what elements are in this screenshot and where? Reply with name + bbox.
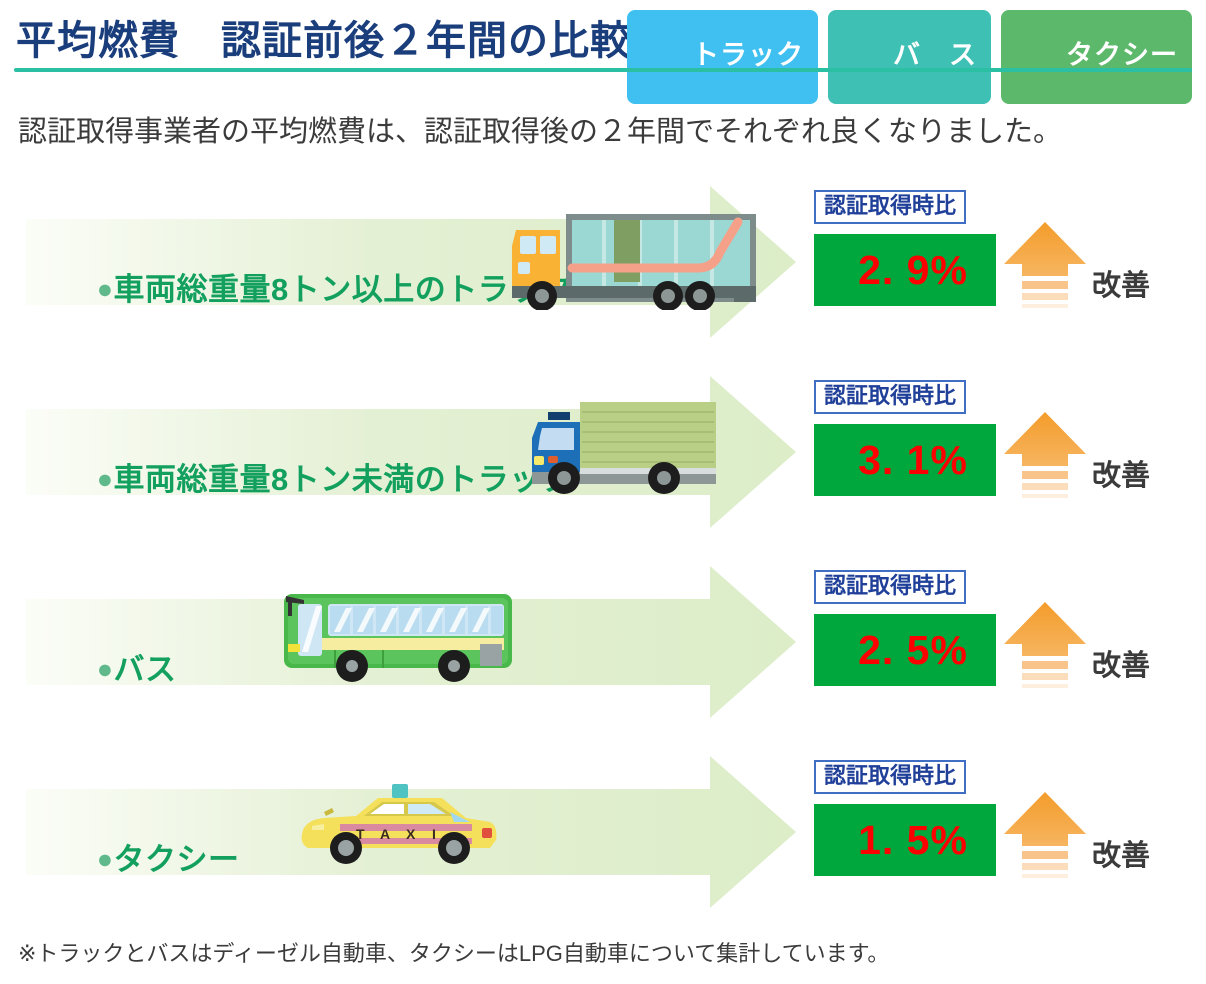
metric-caption: 認証取得時比 — [814, 380, 966, 414]
badge-bus-label: バ ス — [893, 40, 977, 70]
metric-value-box: 1. 5% — [814, 804, 996, 876]
metric-bus: 認証取得時比 2. 5% 改善 — [810, 558, 1200, 748]
footnote-text: ※トラックとバスはディーゼル自動車、タクシーはLPG自動車について集計しています… — [18, 936, 889, 968]
category-badge-group: トラック バ ス タクシー — [627, 10, 1192, 104]
bullet-icon: ● — [97, 844, 114, 874]
improve-label: 改善 — [1092, 642, 1150, 684]
bullet-icon: ● — [97, 654, 114, 684]
metric-value-box: 3. 1% — [814, 424, 996, 496]
improve-label: 改善 — [1092, 452, 1150, 494]
badge-truck-label: トラック — [692, 40, 804, 70]
up-arrow-icon — [1002, 220, 1088, 308]
page-header: 平均燃費 認証前後２年間の比較 トラック バ ス タクシー — [0, 0, 1206, 78]
page-title: 平均燃費 認証前後２年間の比較 — [16, 8, 631, 66]
up-arrow-icon — [1002, 600, 1088, 688]
up-arrow-icon — [1002, 410, 1088, 498]
row-label-text: バス — [114, 652, 177, 687]
badge-taxi-label: タクシー — [1066, 40, 1178, 70]
comparison-rows: ●車両総重量8トン以上のトラック — [0, 178, 1206, 938]
badge-bus[interactable]: バ ス — [828, 10, 991, 104]
bullet-icon: ● — [97, 274, 114, 304]
metric-value: 2. 9% — [858, 247, 968, 294]
metric-caption: 認証取得時比 — [814, 760, 966, 794]
row-taxi: ●タクシー T A X I — [0, 748, 1206, 938]
row-label-large-truck: ●車両総重量8トン以上のトラック — [42, 228, 572, 345]
badge-truck[interactable]: トラック — [627, 10, 818, 104]
title-divider — [14, 68, 1192, 72]
improve-label: 改善 — [1092, 832, 1150, 874]
row-label-taxi: ●タクシー — [42, 798, 240, 915]
row-bus: ●バス — [0, 558, 1206, 748]
row-small-truck: ●車両総重量8トン未満のトラック — [0, 368, 1206, 558]
up-arrow-icon — [1002, 790, 1088, 878]
row-large-truck: ●車両総重量8トン以上のトラック — [0, 178, 1206, 368]
row-label-text: 車両総重量8トン未満のトラック — [114, 462, 573, 497]
improve-label: 改善 — [1092, 262, 1150, 304]
metric-caption: 認証取得時比 — [814, 570, 966, 604]
metric-value: 1. 5% — [858, 817, 968, 864]
metric-small-truck: 認証取得時比 3. 1% 改善 — [810, 368, 1200, 558]
metric-large-truck: 認証取得時比 2. 9% 改善 — [810, 178, 1200, 368]
large-truck-icon — [498, 200, 766, 310]
badge-taxi[interactable]: タクシー — [1001, 10, 1192, 104]
row-label-small-truck: ●車両総重量8トン未満のトラック — [42, 418, 572, 535]
small-truck-icon — [524, 394, 720, 494]
metric-taxi: 認証取得時比 1. 5% 改善 — [810, 748, 1200, 938]
metric-caption: 認証取得時比 — [814, 190, 966, 224]
metric-value: 2. 5% — [858, 627, 968, 674]
bus-icon — [274, 586, 522, 684]
bullet-icon: ● — [97, 464, 114, 494]
svg-text:I: I — [432, 826, 436, 842]
metric-value-box: 2. 5% — [814, 614, 996, 686]
metric-value-box: 2. 9% — [814, 234, 996, 306]
lead-text: 認証取得事業者の平均燃費は、認証取得後の２年間でそれぞれ良くなりました。 — [18, 108, 1062, 150]
row-label-bus: ●バス — [42, 608, 177, 725]
row-label-text: タクシー — [114, 842, 240, 877]
metric-value: 3. 1% — [858, 437, 968, 484]
taxi-icon: T A X I — [294, 782, 504, 868]
svg-text:A: A — [380, 826, 390, 842]
svg-text:X: X — [406, 826, 416, 842]
